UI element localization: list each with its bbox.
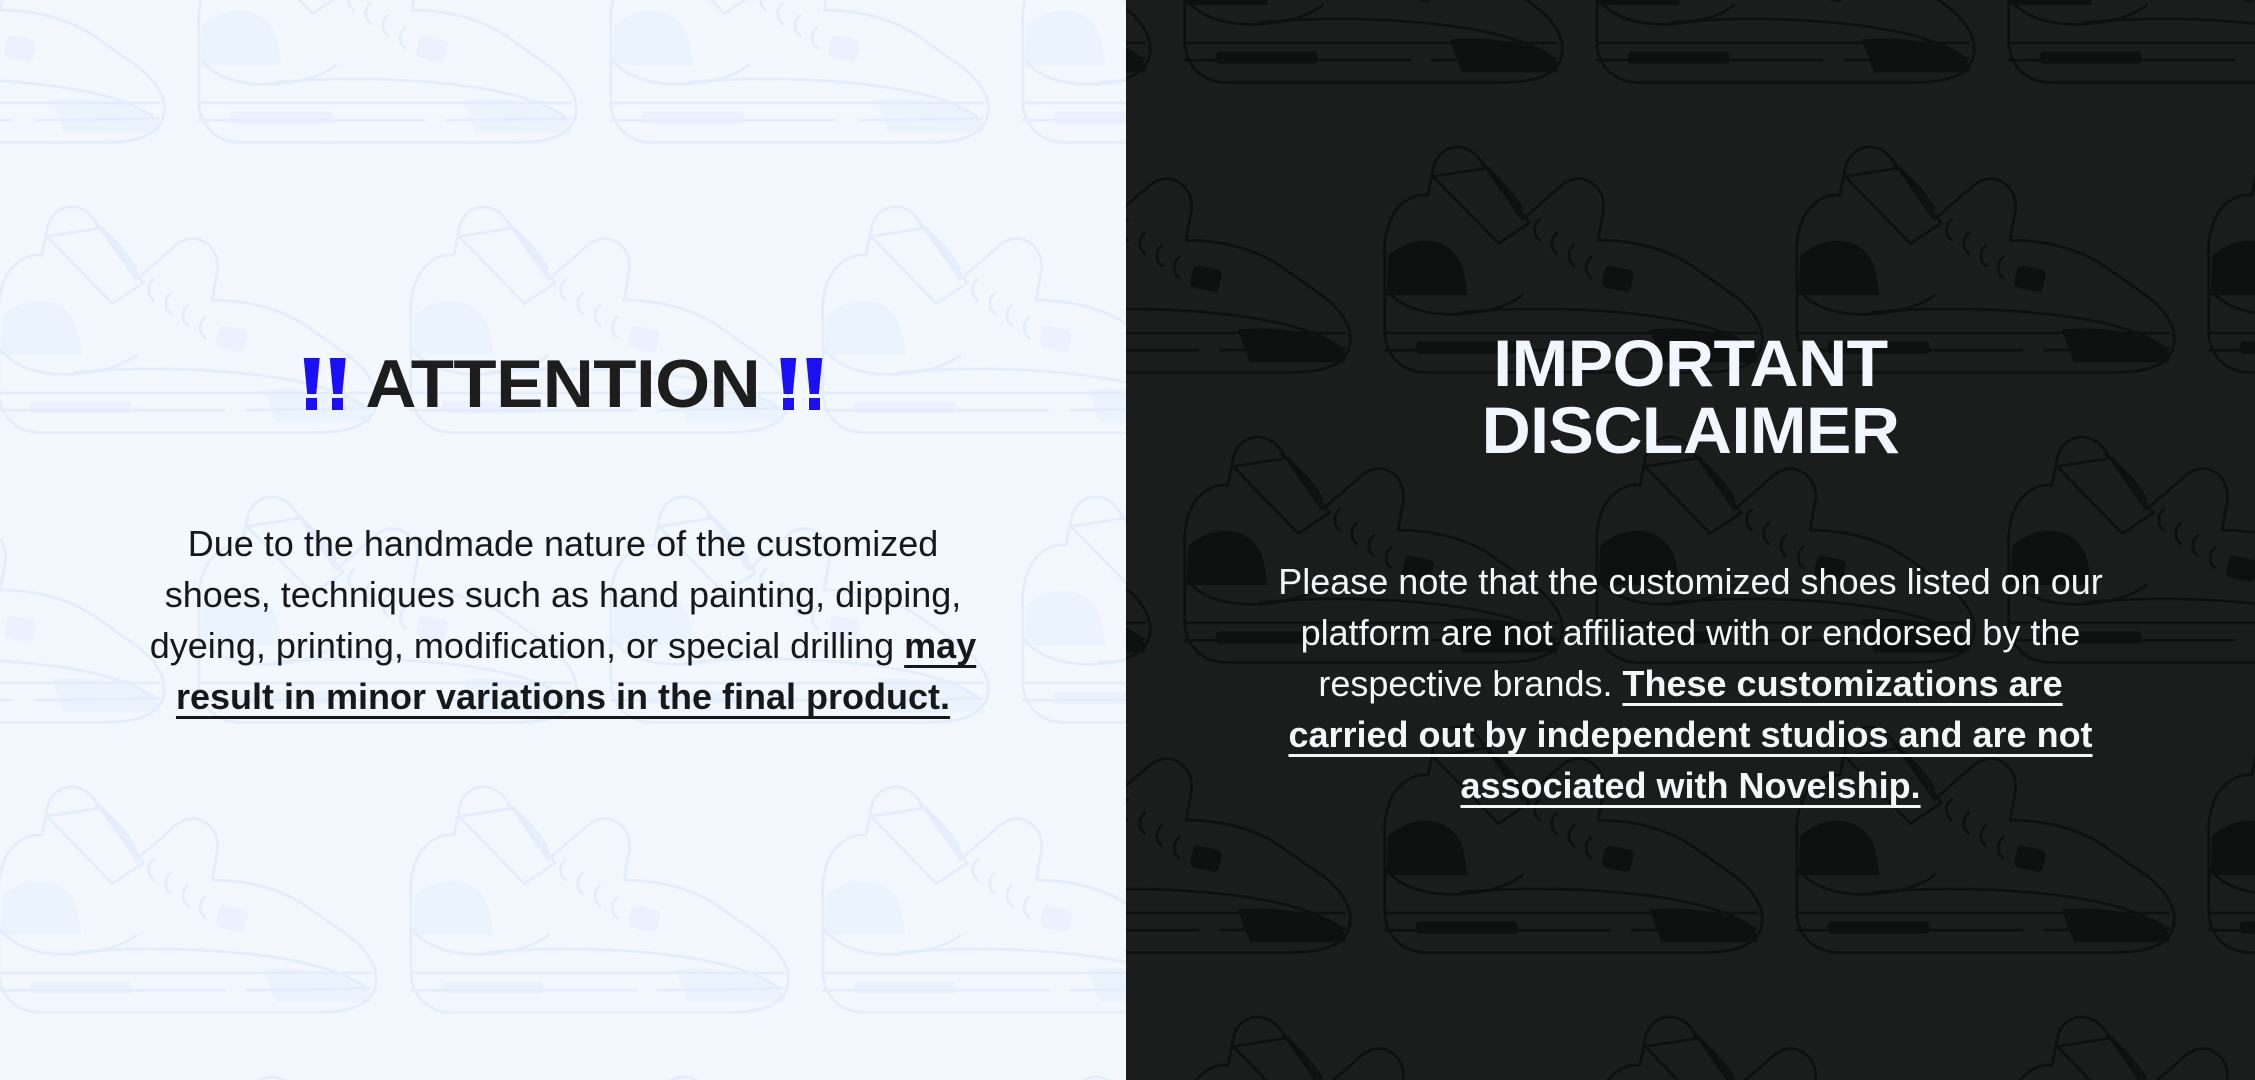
attention-body-plain: Due to the handmade nature of the custom… xyxy=(150,523,962,666)
double-exclamation-icon-left xyxy=(302,358,347,410)
attention-content: ATTENTION Due to the handmade nature of … xyxy=(0,0,1126,1080)
attention-panel: ATTENTION Due to the handmade nature of … xyxy=(0,0,1126,1080)
disclaimer-content: IMPORTANT DISCLAIMER Please note that th… xyxy=(1126,0,2255,1080)
attention-heading-text: ATTENTION xyxy=(366,350,761,418)
disclaimer-heading: IMPORTANT DISCLAIMER xyxy=(1126,330,2255,465)
disclaimer-heading-line-1: IMPORTANT xyxy=(1126,330,2255,397)
attention-body: Due to the handmade nature of the custom… xyxy=(148,518,978,722)
disclaimer-body: Please note that the customized shoes li… xyxy=(1271,556,2111,812)
disclaimer-heading-line-2: DISCLAIMER xyxy=(1126,397,2255,464)
attention-heading: ATTENTION xyxy=(0,350,1126,418)
double-exclamation-icon-right xyxy=(779,358,824,410)
disclaimer-panel: IMPORTANT DISCLAIMER Please note that th… xyxy=(1126,0,2255,1080)
split-banner: ATTENTION Due to the handmade nature of … xyxy=(0,0,2255,1080)
